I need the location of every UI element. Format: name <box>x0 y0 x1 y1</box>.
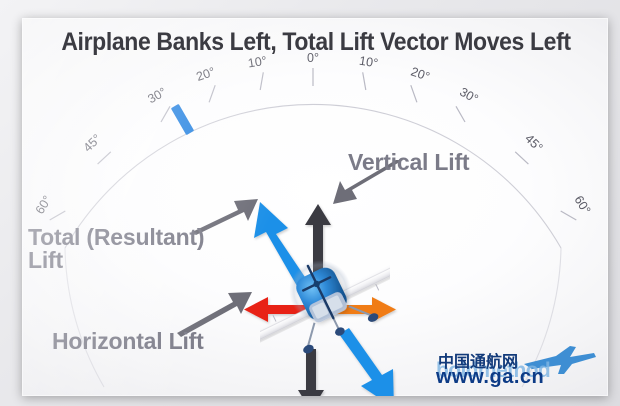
arc-left-leg <box>65 248 104 387</box>
tick-label: 60° <box>33 193 55 216</box>
tick-label: 60° <box>571 193 593 216</box>
tick-label: 30° <box>145 85 168 106</box>
page-title: Airplane Banks Left, Total Lift Vector M… <box>58 28 573 57</box>
callout-horizontal-lift: Horizontal Lift <box>52 328 204 354</box>
watermark: boldmethod 中国通航网 www.ga.cn <box>430 342 600 394</box>
airplane-front-view <box>260 246 390 356</box>
tick-label: 30° <box>457 85 480 106</box>
watermark-url: www.ga.cn <box>436 366 544 389</box>
callout-vertical-lift: Vertical Lift <box>348 149 470 175</box>
callout-total-lift-line2: Lift <box>28 247 63 273</box>
vertical-lift-down-arrow <box>298 349 324 396</box>
tick-label: 20° <box>409 65 431 84</box>
illustration-panel: Airplane Banks Left, Total Lift Vector M… <box>22 18 608 396</box>
wheel-nose <box>334 326 346 338</box>
bank-indicator <box>171 104 194 135</box>
tick-label: 45° <box>81 132 104 155</box>
tick-label: 20° <box>194 65 216 84</box>
arc-ticks <box>50 68 577 220</box>
tick-label: 45° <box>522 132 545 155</box>
